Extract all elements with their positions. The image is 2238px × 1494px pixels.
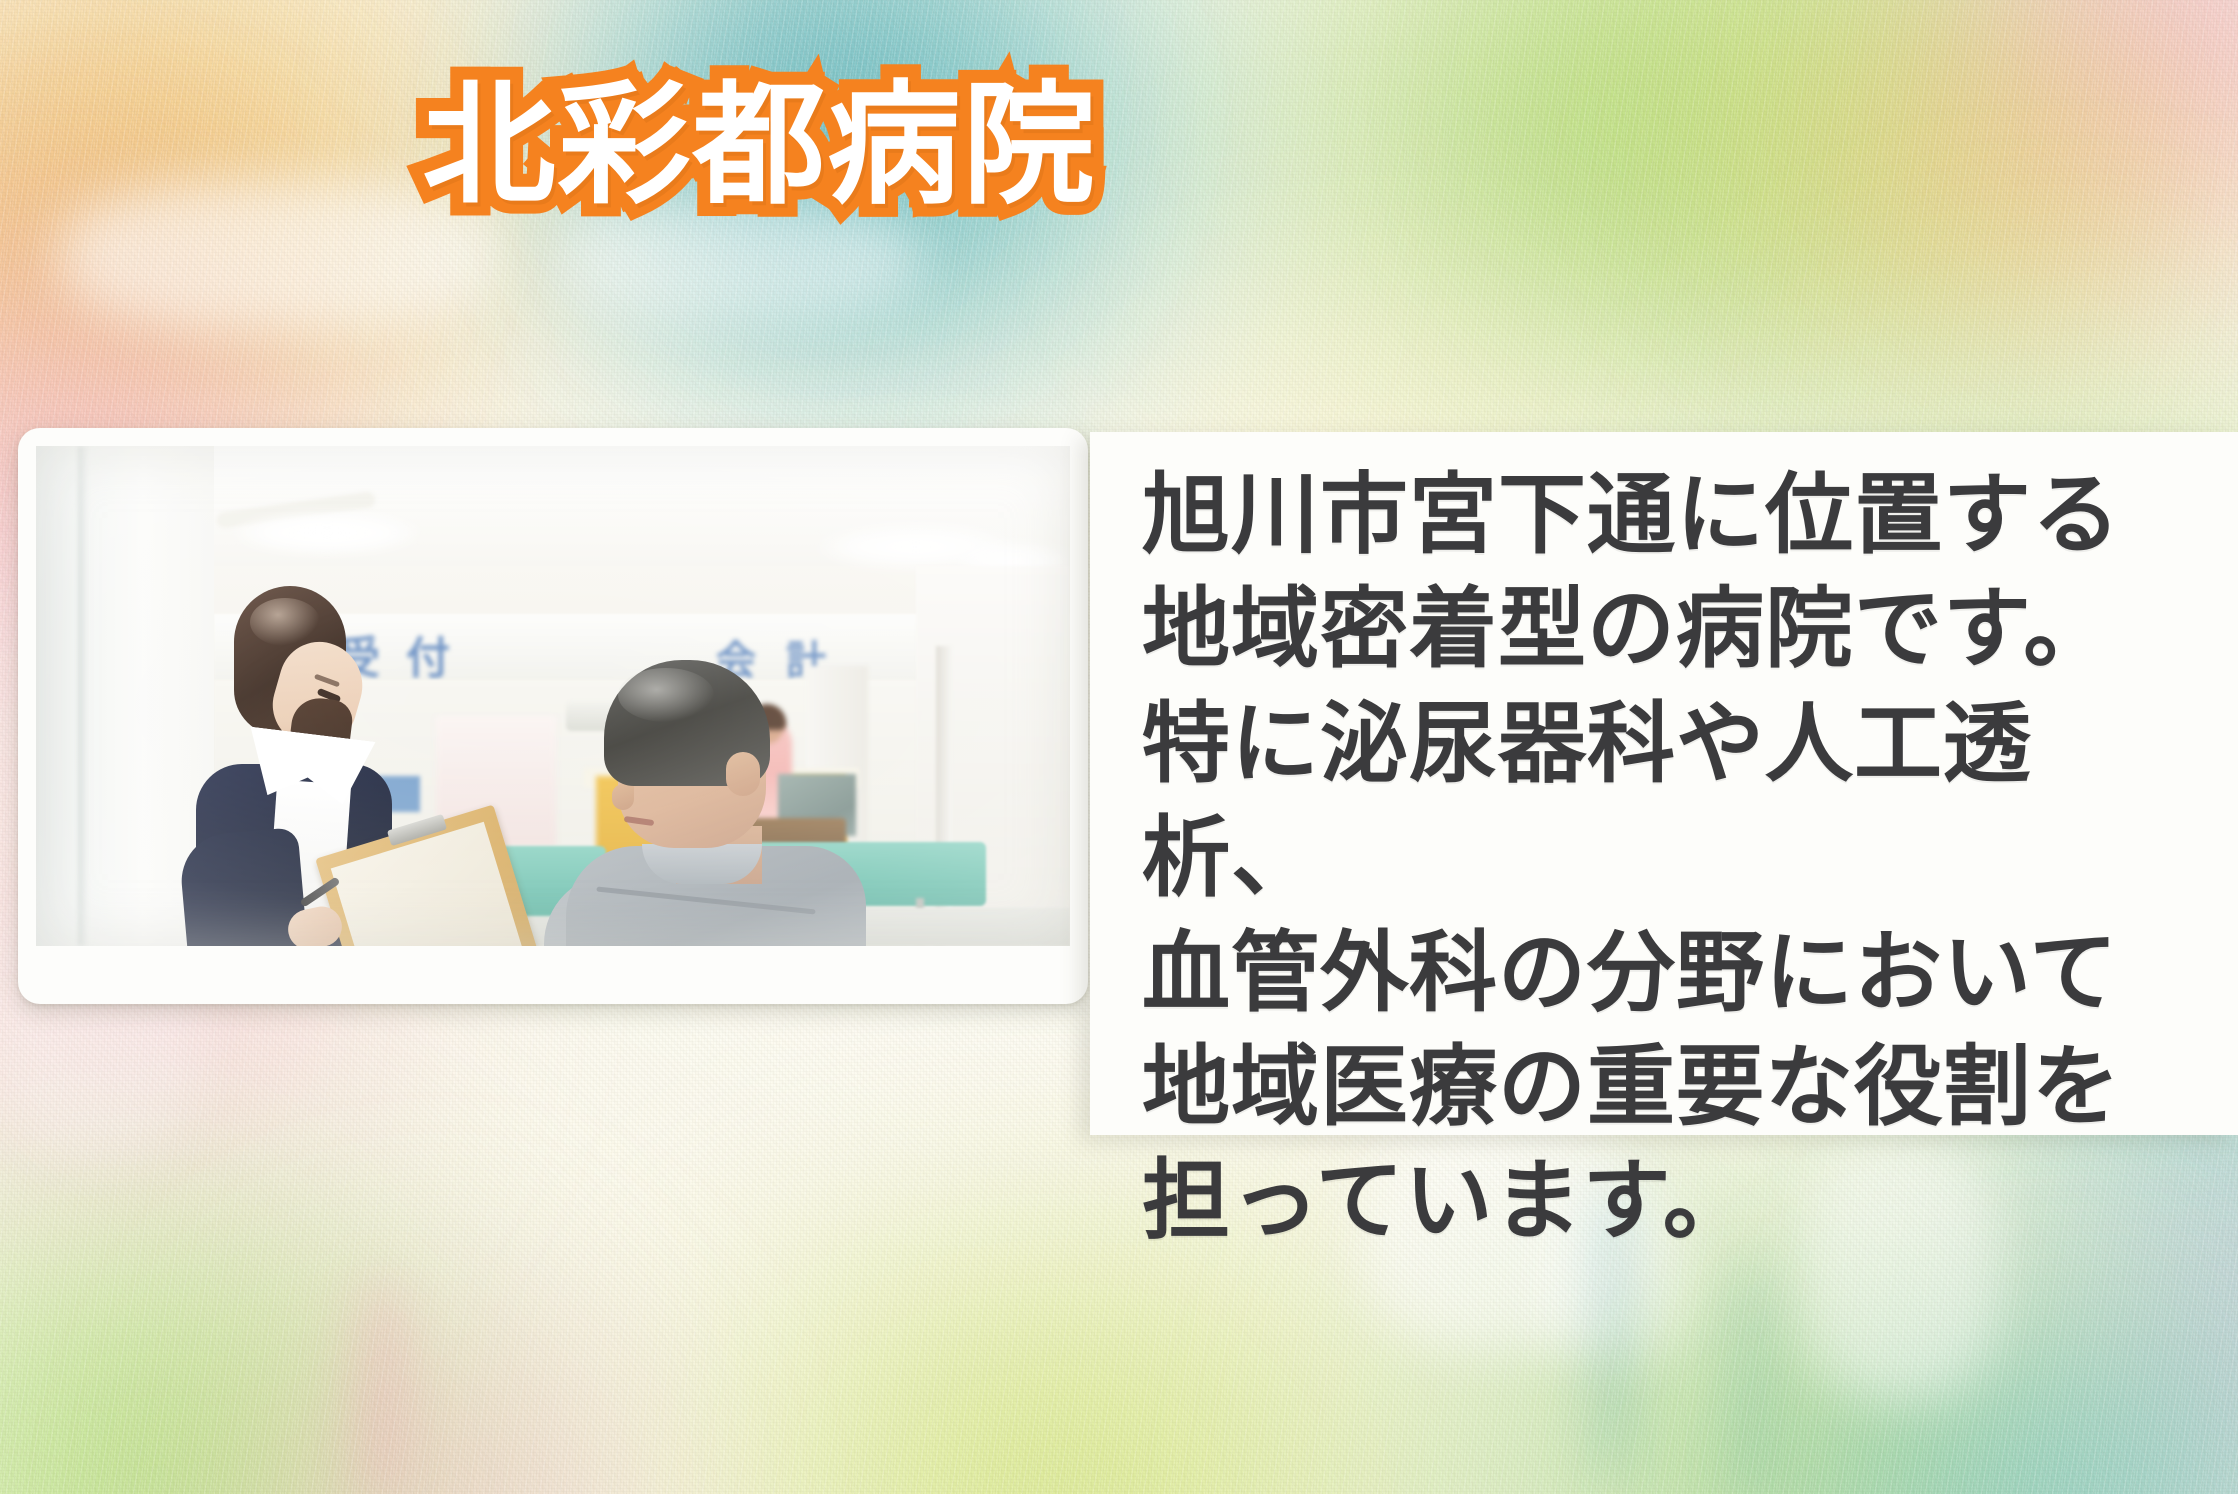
photo-card: 受付 会計 bbox=[18, 428, 1088, 1004]
description-text: 旭川市宮下通に位置する 地域密着型の病院です。 特に泌尿器科や人工透析、 血管外… bbox=[1142, 458, 2202, 1259]
page-title-container: 北彩都病院 bbox=[0, 76, 1520, 217]
photo-vignette bbox=[36, 446, 1070, 946]
hospital-reception-photo: 受付 会計 bbox=[36, 446, 1070, 946]
description-card: 旭川市宮下通に位置する 地域密着型の病院です。 特に泌尿器科や人工透析、 血管外… bbox=[1090, 432, 2238, 1135]
page-title: 北彩都病院 bbox=[423, 76, 1098, 217]
